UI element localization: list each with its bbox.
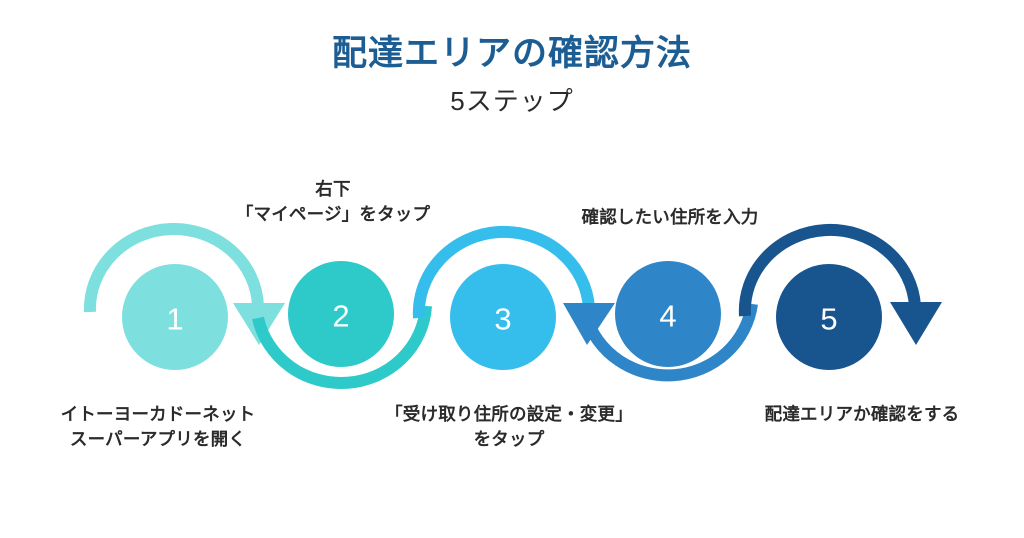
step-caption-3-line-2: をタップ <box>385 427 633 452</box>
step-caption-1: イトーヨーカドーネット スーパーアプリを開く <box>61 402 256 453</box>
step-circle-2 <box>288 261 394 367</box>
step-circle-5 <box>776 264 882 370</box>
step-caption-5: 配達エリアか確認をする <box>765 402 960 427</box>
step-circle-3 <box>450 264 556 370</box>
step-caption-5-line-1: 配達エリアか確認をする <box>765 402 960 427</box>
infographic-canvas: 配達エリアの確認方法 5ステップ <box>0 0 1024 538</box>
step-circle-4 <box>615 261 721 367</box>
step-caption-1-line-2: スーパーアプリを開く <box>61 427 256 452</box>
step-caption-2-line-2: 「マイページ」をタップ <box>236 202 430 227</box>
step-circle-1 <box>122 264 228 370</box>
step-caption-2: 右下 「マイページ」をタップ <box>236 177 430 228</box>
step-caption-2-line-1: 右下 <box>236 177 430 202</box>
step-caption-4: 確認したい住所を入力 <box>582 205 759 230</box>
process-flow-graphic <box>0 0 1024 538</box>
step-caption-3-line-1: 「受け取り住所の設定・変更」 <box>385 402 633 427</box>
step-caption-4-line-1: 確認したい住所を入力 <box>582 205 759 230</box>
step-caption-3: 「受け取り住所の設定・変更」 をタップ <box>385 402 633 453</box>
step-caption-1-line-1: イトーヨーカドーネット <box>61 402 256 427</box>
